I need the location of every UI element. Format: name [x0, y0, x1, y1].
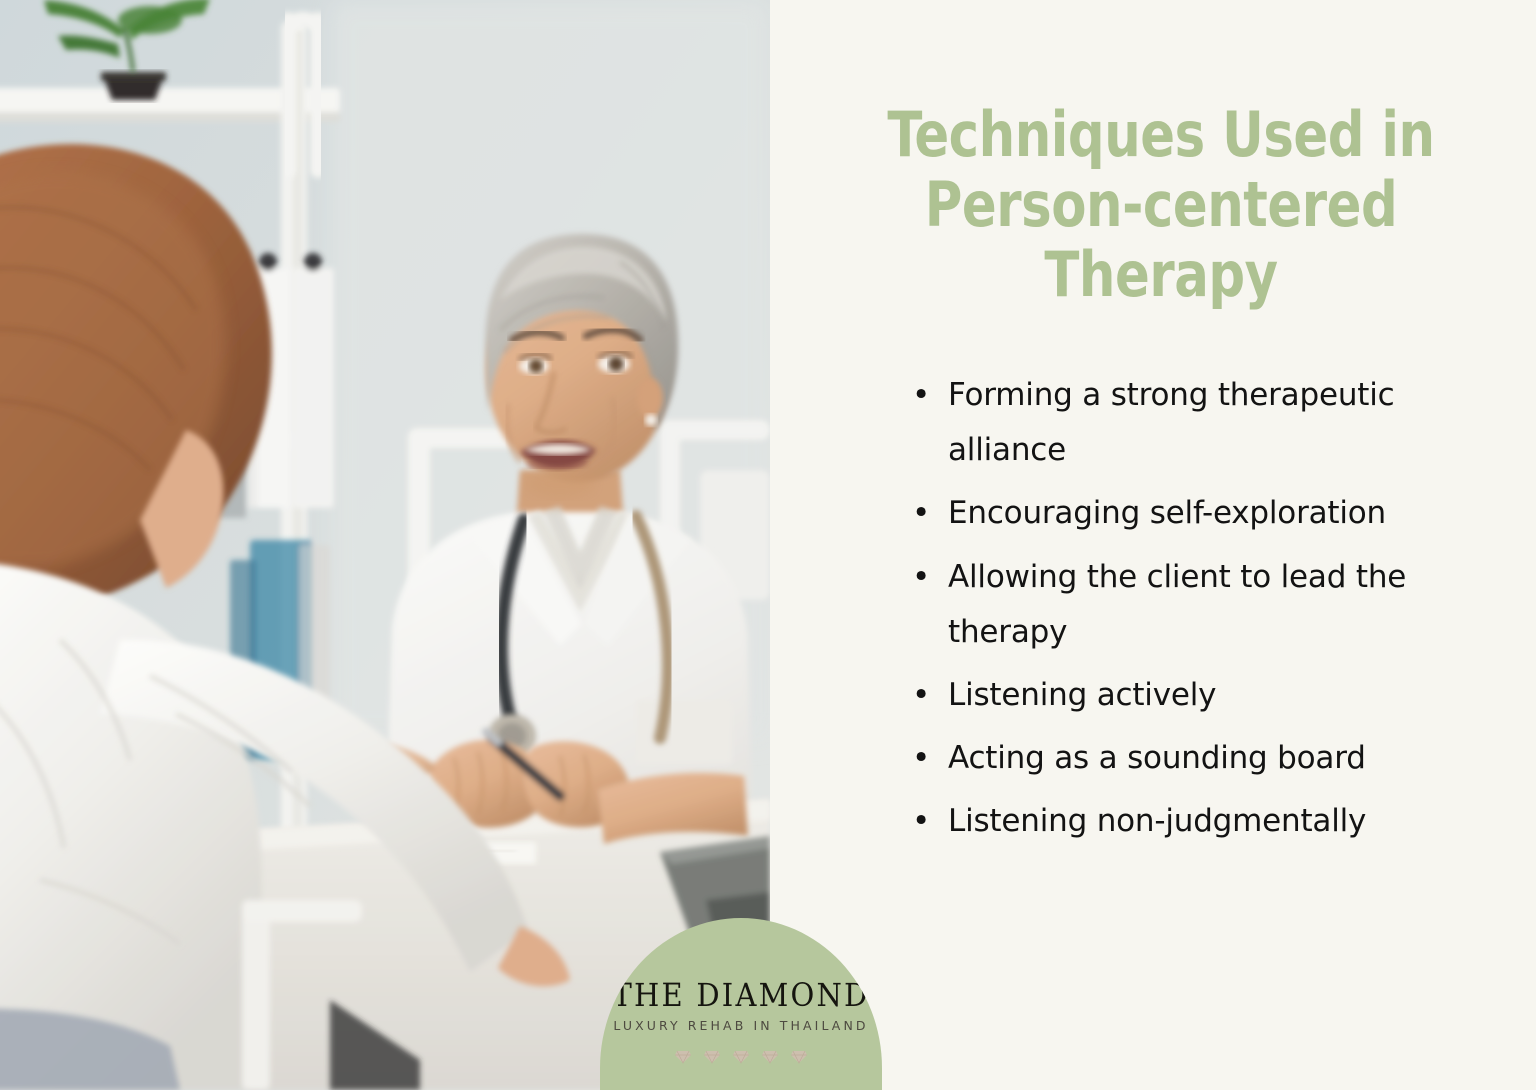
list-item-label: Allowing the client to lead the therapy	[948, 559, 1406, 650]
content-panel: Techniques Used in Person-centered Thera…	[770, 0, 1536, 1090]
list-item: • Listening actively	[898, 668, 1498, 723]
list-item-label: Listening actively	[948, 677, 1216, 713]
diamond-icon	[761, 1050, 779, 1064]
brand-name: THE DIAMOND	[600, 977, 882, 1014]
brand-tagline: LUXURY REHAB IN THAILAND	[600, 1018, 882, 1033]
list-item: • Acting as a sounding board	[898, 731, 1498, 786]
techniques-list: • Forming a strong therapeutic alliance …	[898, 368, 1498, 857]
diamond-icon	[703, 1050, 721, 1064]
diamond-icon	[790, 1050, 808, 1064]
list-item: • Listening non-judgmentally	[898, 794, 1498, 849]
photo-illustration	[0, 0, 770, 1090]
clinic-consultation-photo	[0, 0, 770, 1090]
bullet-point-icon: •	[912, 486, 930, 541]
diamond-icon	[732, 1050, 750, 1064]
list-item: • Forming a strong therapeutic alliance	[898, 368, 1498, 478]
bullet-point-icon: •	[912, 668, 930, 723]
list-item-label: Forming a strong therapeutic alliance	[948, 377, 1394, 468]
diamond-row	[600, 1050, 882, 1064]
list-item-label: Acting as a sounding board	[948, 740, 1366, 776]
page-title: Techniques Used in Person-centered Thera…	[844, 100, 1479, 310]
slide-root: Techniques Used in Person-centered Thera…	[0, 0, 1536, 1090]
diamond-icon	[674, 1050, 692, 1064]
list-item: • Allowing the client to lead the therap…	[898, 550, 1498, 660]
bullet-point-icon: •	[912, 731, 930, 786]
list-item-label: Encouraging self-exploration	[948, 495, 1386, 531]
list-item-label: Listening non-judgmentally	[948, 803, 1366, 839]
list-item: • Encouraging self-exploration	[898, 486, 1498, 541]
bullet-point-icon: •	[912, 550, 930, 605]
bullet-point-icon: •	[912, 368, 930, 423]
bullet-point-icon: •	[912, 794, 930, 849]
